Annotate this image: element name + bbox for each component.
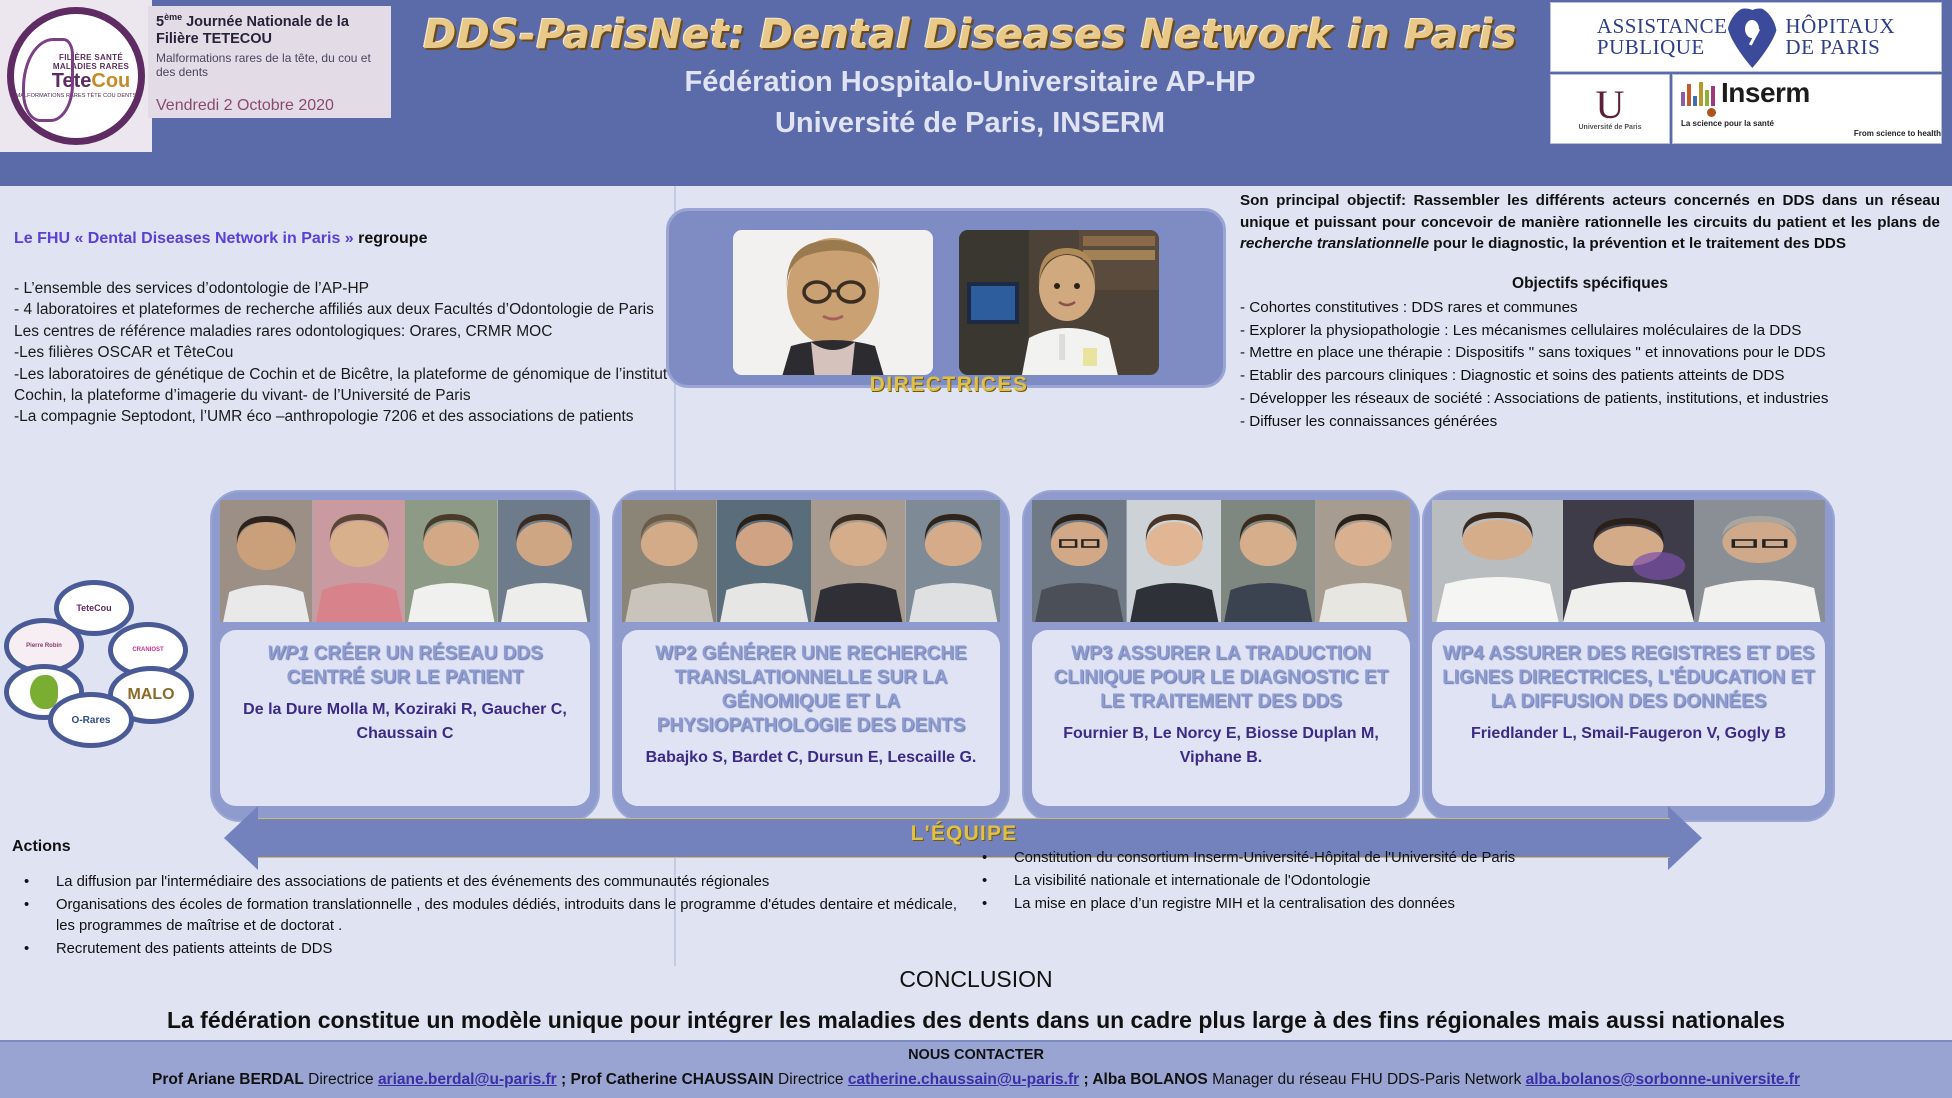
work-package-wp2[interactable]: WP2 GÉNÉRER UNE RECHERCHE TRANSLATIONNEL… bbox=[612, 490, 1010, 822]
green-face-icon bbox=[30, 675, 58, 709]
universite-de-paris-logo: U Université de Paris bbox=[1550, 74, 1670, 144]
inserm-wordmark: Inserm bbox=[1721, 79, 1810, 107]
page-title: DDS-ParisNet: Dental Diseases Network in… bbox=[400, 12, 1540, 58]
intro-heading-plain: regroupe bbox=[354, 230, 428, 247]
poster-root: FILIÈRE SANTÉ MALADIES RARES TeteCou MAL… bbox=[0, 0, 1952, 1098]
objective-item: - Explorer la physiopathologie : Les méc… bbox=[1240, 320, 1940, 343]
bullet-icon: • bbox=[970, 894, 1014, 915]
event-title-rest: Journée Nationale de la Filière TETECOU bbox=[156, 14, 349, 47]
actions-list-left: • La diffusion par l'intermédiaire des a… bbox=[12, 872, 962, 962]
page-subtitle-line2: Université de Paris, INSERM bbox=[400, 103, 1540, 144]
directrice-photo-2 bbox=[954, 225, 1164, 380]
udp-caption: Université de Paris bbox=[1578, 124, 1641, 131]
team-photo bbox=[1032, 500, 1127, 622]
action-item-text: Organisations des écoles de formation tr… bbox=[56, 895, 962, 937]
cluster-label: MALO bbox=[127, 686, 174, 704]
team-photo bbox=[906, 500, 1001, 622]
contact-person-1-name: Prof Ariane BERDAL bbox=[152, 1071, 304, 1088]
directrices-label: DIRECTRICES bbox=[669, 373, 1229, 397]
inserm-bars-icon bbox=[1681, 80, 1715, 106]
wp3-photos bbox=[1032, 500, 1410, 622]
team-photo bbox=[405, 500, 498, 622]
contact-person-3-role: Manager du réseau FHU DDS-Paris Network bbox=[1208, 1071, 1526, 1088]
actions-heading: Actions bbox=[12, 838, 71, 856]
team-photo bbox=[220, 500, 313, 622]
team-photo bbox=[1127, 500, 1222, 622]
team-photo bbox=[717, 500, 812, 622]
wp4-content: WP4 ASSURER DES REGISTRES ET DES LIGNES … bbox=[1432, 630, 1825, 806]
contact-separator-2: ; bbox=[1079, 1071, 1092, 1088]
bullet-icon: • bbox=[12, 939, 56, 960]
intro-line-4: -Les filières OSCAR et TêteCou bbox=[14, 342, 674, 363]
objective-main-post: pour le diagnostic, la prévention et le … bbox=[1429, 235, 1846, 252]
wp2-authors: Babajko S, Bardet C, Dursun E, Lescaille… bbox=[646, 746, 977, 770]
aphp-left-1: ASSISTANCE bbox=[1597, 16, 1728, 37]
team-photo bbox=[811, 500, 906, 622]
portrait-office-illustration bbox=[959, 230, 1159, 380]
event-banner: 5ème Journée Nationale de la Filière TET… bbox=[148, 6, 391, 118]
event-date: Vendredi 2 Octobre 2020 bbox=[156, 97, 383, 115]
work-package-wp3[interactable]: WP3 ASSURER LA TRADUCTION CLINIQUE POUR … bbox=[1022, 490, 1420, 822]
objective-item: - Etablir des parcours cliniques : Diagn… bbox=[1240, 365, 1940, 388]
action-item-text: Recrutement des patients atteints de DDS bbox=[56, 939, 962, 960]
portrait-illustration bbox=[733, 230, 933, 380]
aphp-right-1: HÔPITAUX bbox=[1785, 16, 1895, 37]
intro-line-3: Les centres de référence maladies rares … bbox=[14, 321, 674, 342]
action-item: • La visibilité nationale et internation… bbox=[970, 871, 1770, 892]
action-item: • Constitution du consortium Inserm-Univ… bbox=[970, 848, 1770, 869]
udp-monogram-icon: U bbox=[1596, 88, 1625, 122]
contact-person-2-email[interactable]: catherine.chaussain@u-paris.fr bbox=[848, 1071, 1079, 1088]
wp1-content: WP1 CRÉER UN RÉSEAU DDS CENTRÉ SUR LE PA… bbox=[220, 630, 590, 806]
team-photo bbox=[1432, 500, 1563, 622]
wp4-title: WP4 ASSURER DES REGISTRES ET DES LIGNES … bbox=[1440, 642, 1817, 714]
conclusion-text: La fédération constitue un modèle unique… bbox=[0, 1007, 1952, 1034]
objectives-block: Son principal objectif: Rassembler les d… bbox=[1240, 190, 1940, 434]
intro-line-1: - L’ensemble des services d’odontologie … bbox=[14, 278, 674, 299]
directrices-photos bbox=[669, 211, 1223, 380]
equipe-label: L'ÉQUIPE bbox=[258, 822, 1670, 846]
contact-person-1-email[interactable]: ariane.berdal@u-paris.fr bbox=[378, 1071, 557, 1088]
intro-heading-link: Le FHU « Dental Diseases Network in Pari… bbox=[14, 230, 354, 247]
conclusion-heading: CONCLUSION bbox=[0, 966, 1952, 993]
objective-item: - Mettre en place une thérapie : Disposi… bbox=[1240, 342, 1940, 365]
event-title-sup: ème bbox=[164, 12, 182, 22]
intro-line-5: -Les laboratoires de génétique de Cochin… bbox=[14, 364, 674, 407]
team-photo bbox=[622, 500, 717, 622]
bullet-icon: • bbox=[12, 872, 56, 893]
intro-heading: Le FHU « Dental Diseases Network in Pari… bbox=[14, 228, 674, 250]
wp1-title-code: WP1 bbox=[267, 643, 308, 664]
contact-person-3-email[interactable]: alba.bolanos@sorbonne-universite.fr bbox=[1526, 1071, 1800, 1088]
directrices-card: DIRECTRICES bbox=[666, 208, 1226, 388]
intro-block: Le FHU « Dental Diseases Network in Pari… bbox=[14, 228, 674, 428]
objectives-list: - Cohortes constitutives : DDS rares et … bbox=[1240, 297, 1940, 434]
action-item: • Recrutement des patients atteints de D… bbox=[12, 939, 962, 960]
wp3-authors: Fournier B, Le Norcy E, Biosse Duplan M,… bbox=[1040, 722, 1402, 770]
wp2-content: WP2 GÉNÉRER UNE RECHERCHE TRANSLATIONNEL… bbox=[622, 630, 1000, 806]
event-title: 5ème Journée Nationale de la Filière TET… bbox=[156, 12, 383, 47]
wp1-authors: De la Dure Molla M, Koziraki R, Gaucher … bbox=[228, 698, 582, 746]
cluster-label: Pierre Robin bbox=[26, 643, 62, 649]
tetecou-logo: FILIÈRE SANTÉ MALADIES RARES TeteCou MAL… bbox=[0, 0, 152, 152]
conclusion-block: CONCLUSION La fédération constitue un mo… bbox=[0, 966, 1952, 1034]
logo-row-secondary: U Université de Paris Inserm bbox=[1550, 74, 1942, 144]
action-item: • La mise en place d’un registre MIH et … bbox=[970, 894, 1770, 915]
event-title-num: 5 bbox=[156, 14, 164, 30]
cluster-label: CRANIOST bbox=[132, 647, 163, 653]
action-item-text: La diffusion par l'intermédiaire des ass… bbox=[56, 872, 962, 893]
page-subtitle: Fédération Hospitalo-Universitaire AP-HP… bbox=[400, 62, 1540, 144]
cluster-label: O-Rares bbox=[72, 715, 111, 726]
actions-list-right: • Constitution du consortium Inserm-Univ… bbox=[970, 848, 1770, 917]
bullet-icon: • bbox=[970, 848, 1014, 869]
action-item: • La diffusion par l'intermédiaire des a… bbox=[12, 872, 962, 893]
wp1-title-text: CRÉER UN RÉSEAU DDS CENTRÉ SUR LE PATIEN… bbox=[287, 643, 543, 688]
team-photo bbox=[498, 500, 591, 622]
heart-icon bbox=[1727, 6, 1777, 68]
o-rares-cluster-logo: O-Rares bbox=[48, 692, 134, 748]
work-package-wp4[interactable]: WP4 ASSURER DES REGISTRES ET DES LIGNES … bbox=[1422, 490, 1835, 822]
aphp-left-text: ASSISTANCE PUBLIQUE bbox=[1597, 16, 1728, 59]
action-item-text: La mise en place d’un registre MIH et la… bbox=[1014, 894, 1770, 915]
aphp-logo: ASSISTANCE PUBLIQUE HÔPITAUX DE PARIS bbox=[1550, 2, 1942, 72]
tetecou-brand-b: Cou bbox=[91, 70, 130, 92]
contact-person-2-role: Directrice bbox=[774, 1071, 848, 1088]
team-photo bbox=[1694, 500, 1825, 622]
team-photo bbox=[1221, 500, 1316, 622]
wp3-title: WP3 ASSURER LA TRADUCTION CLINIQUE POUR … bbox=[1040, 642, 1402, 714]
team-photo bbox=[1316, 500, 1411, 622]
contact-footer: NOUS CONTACTER Prof Ariane BERDAL Direct… bbox=[0, 1040, 1952, 1098]
wp1-photos bbox=[220, 500, 590, 622]
objective-item: - Diffuser les connaissances générées bbox=[1240, 411, 1940, 434]
inserm-tagline-fr: La science pour la santé bbox=[1681, 119, 1774, 128]
action-item-text: Constitution du consortium Inserm-Univer… bbox=[1014, 848, 1770, 869]
objective-item: - Développer les réseaux de société : As… bbox=[1240, 388, 1940, 411]
bullet-icon: • bbox=[970, 871, 1014, 892]
intro-line-2: - 4 laboratoires et plateformes de reche… bbox=[14, 299, 674, 320]
action-item-text: La visibilité nationale et international… bbox=[1014, 871, 1770, 892]
objective-main-pre: Son principal objectif: Rassembler les d… bbox=[1240, 192, 1940, 231]
wp4-authors: Friedlander L, Smail-Faugeron V, Gogly B bbox=[1471, 722, 1786, 746]
objective-item: - Cohortes constitutives : DDS rares et … bbox=[1240, 297, 1940, 320]
objective-main: Son principal objectif: Rassembler les d… bbox=[1240, 190, 1940, 255]
contact-separator-1: ; bbox=[557, 1071, 571, 1088]
wp2-photos bbox=[622, 500, 1000, 622]
contact-person-3-name: Alba BOLANOS bbox=[1092, 1071, 1207, 1088]
page-subtitle-line1: Fédération Hospitalo-Universitaire AP-HP bbox=[400, 62, 1540, 103]
work-package-wp1[interactable]: WP1 CRÉER UN RÉSEAU DDS CENTRÉ SUR LE PA… bbox=[210, 490, 600, 822]
poster-header: FILIÈRE SANTÉ MALADIES RARES TeteCou MAL… bbox=[0, 0, 1952, 186]
inserm-logo: Inserm La science pour la santé From sci… bbox=[1672, 74, 1942, 144]
cluster-label: TeteCou bbox=[76, 603, 111, 613]
action-item: • Organisations des écoles de formation … bbox=[12, 895, 962, 937]
team-photo bbox=[1563, 500, 1694, 622]
wp2-title: WP2 GÉNÉRER UNE RECHERCHE TRANSLATIONNEL… bbox=[630, 642, 992, 738]
work-packages-band: WP1 CRÉER UN RÉSEAU DDS CENTRÉ SUR LE PA… bbox=[210, 490, 1835, 825]
inserm-dot-icon bbox=[1707, 108, 1716, 117]
bullet-icon: • bbox=[12, 895, 56, 937]
aphp-right-text: HÔPITAUX DE PARIS bbox=[1785, 16, 1895, 59]
contact-line: Prof Ariane BERDAL Directrice ariane.ber… bbox=[0, 1071, 1952, 1089]
wp4-photos bbox=[1432, 500, 1825, 622]
aphp-right-2: DE PARIS bbox=[1785, 37, 1895, 58]
contact-person-1-role: Directrice bbox=[304, 1071, 378, 1088]
contact-person-2-name: Prof Catherine CHAUSSAIN bbox=[571, 1071, 774, 1088]
wp3-content: WP3 ASSURER LA TRADUCTION CLINIQUE POUR … bbox=[1032, 630, 1410, 806]
institution-logos: ASSISTANCE PUBLIQUE HÔPITAUX DE PARIS U … bbox=[1550, 2, 1942, 144]
objectives-specific-heading: Objectifs spécifiques bbox=[1240, 273, 1940, 295]
contact-heading: NOUS CONTACTER bbox=[0, 1042, 1952, 1063]
intro-line-6: -La compagnie Septodont, l’UMR éco –anth… bbox=[14, 406, 674, 427]
partner-logo-cluster: TeteCou Pierre Robin CRANIOST MALO O-Rar… bbox=[4, 580, 200, 740]
directrice-photo-1 bbox=[728, 225, 938, 380]
wp1-title: WP1 CRÉER UN RÉSEAU DDS CENTRÉ SUR LE PA… bbox=[228, 642, 582, 690]
inserm-tagline-en: From science to health bbox=[1681, 129, 1941, 139]
objective-main-italic: recherche translationnelle bbox=[1240, 235, 1429, 252]
inserm-tagline: La science pour la santé From science to… bbox=[1681, 119, 1941, 139]
event-subtitle: Malformations rares de la tête, du cou e… bbox=[156, 51, 383, 79]
aphp-left-2: PUBLIQUE bbox=[1597, 37, 1728, 58]
team-photo bbox=[313, 500, 406, 622]
face-profile-icon bbox=[22, 38, 74, 122]
